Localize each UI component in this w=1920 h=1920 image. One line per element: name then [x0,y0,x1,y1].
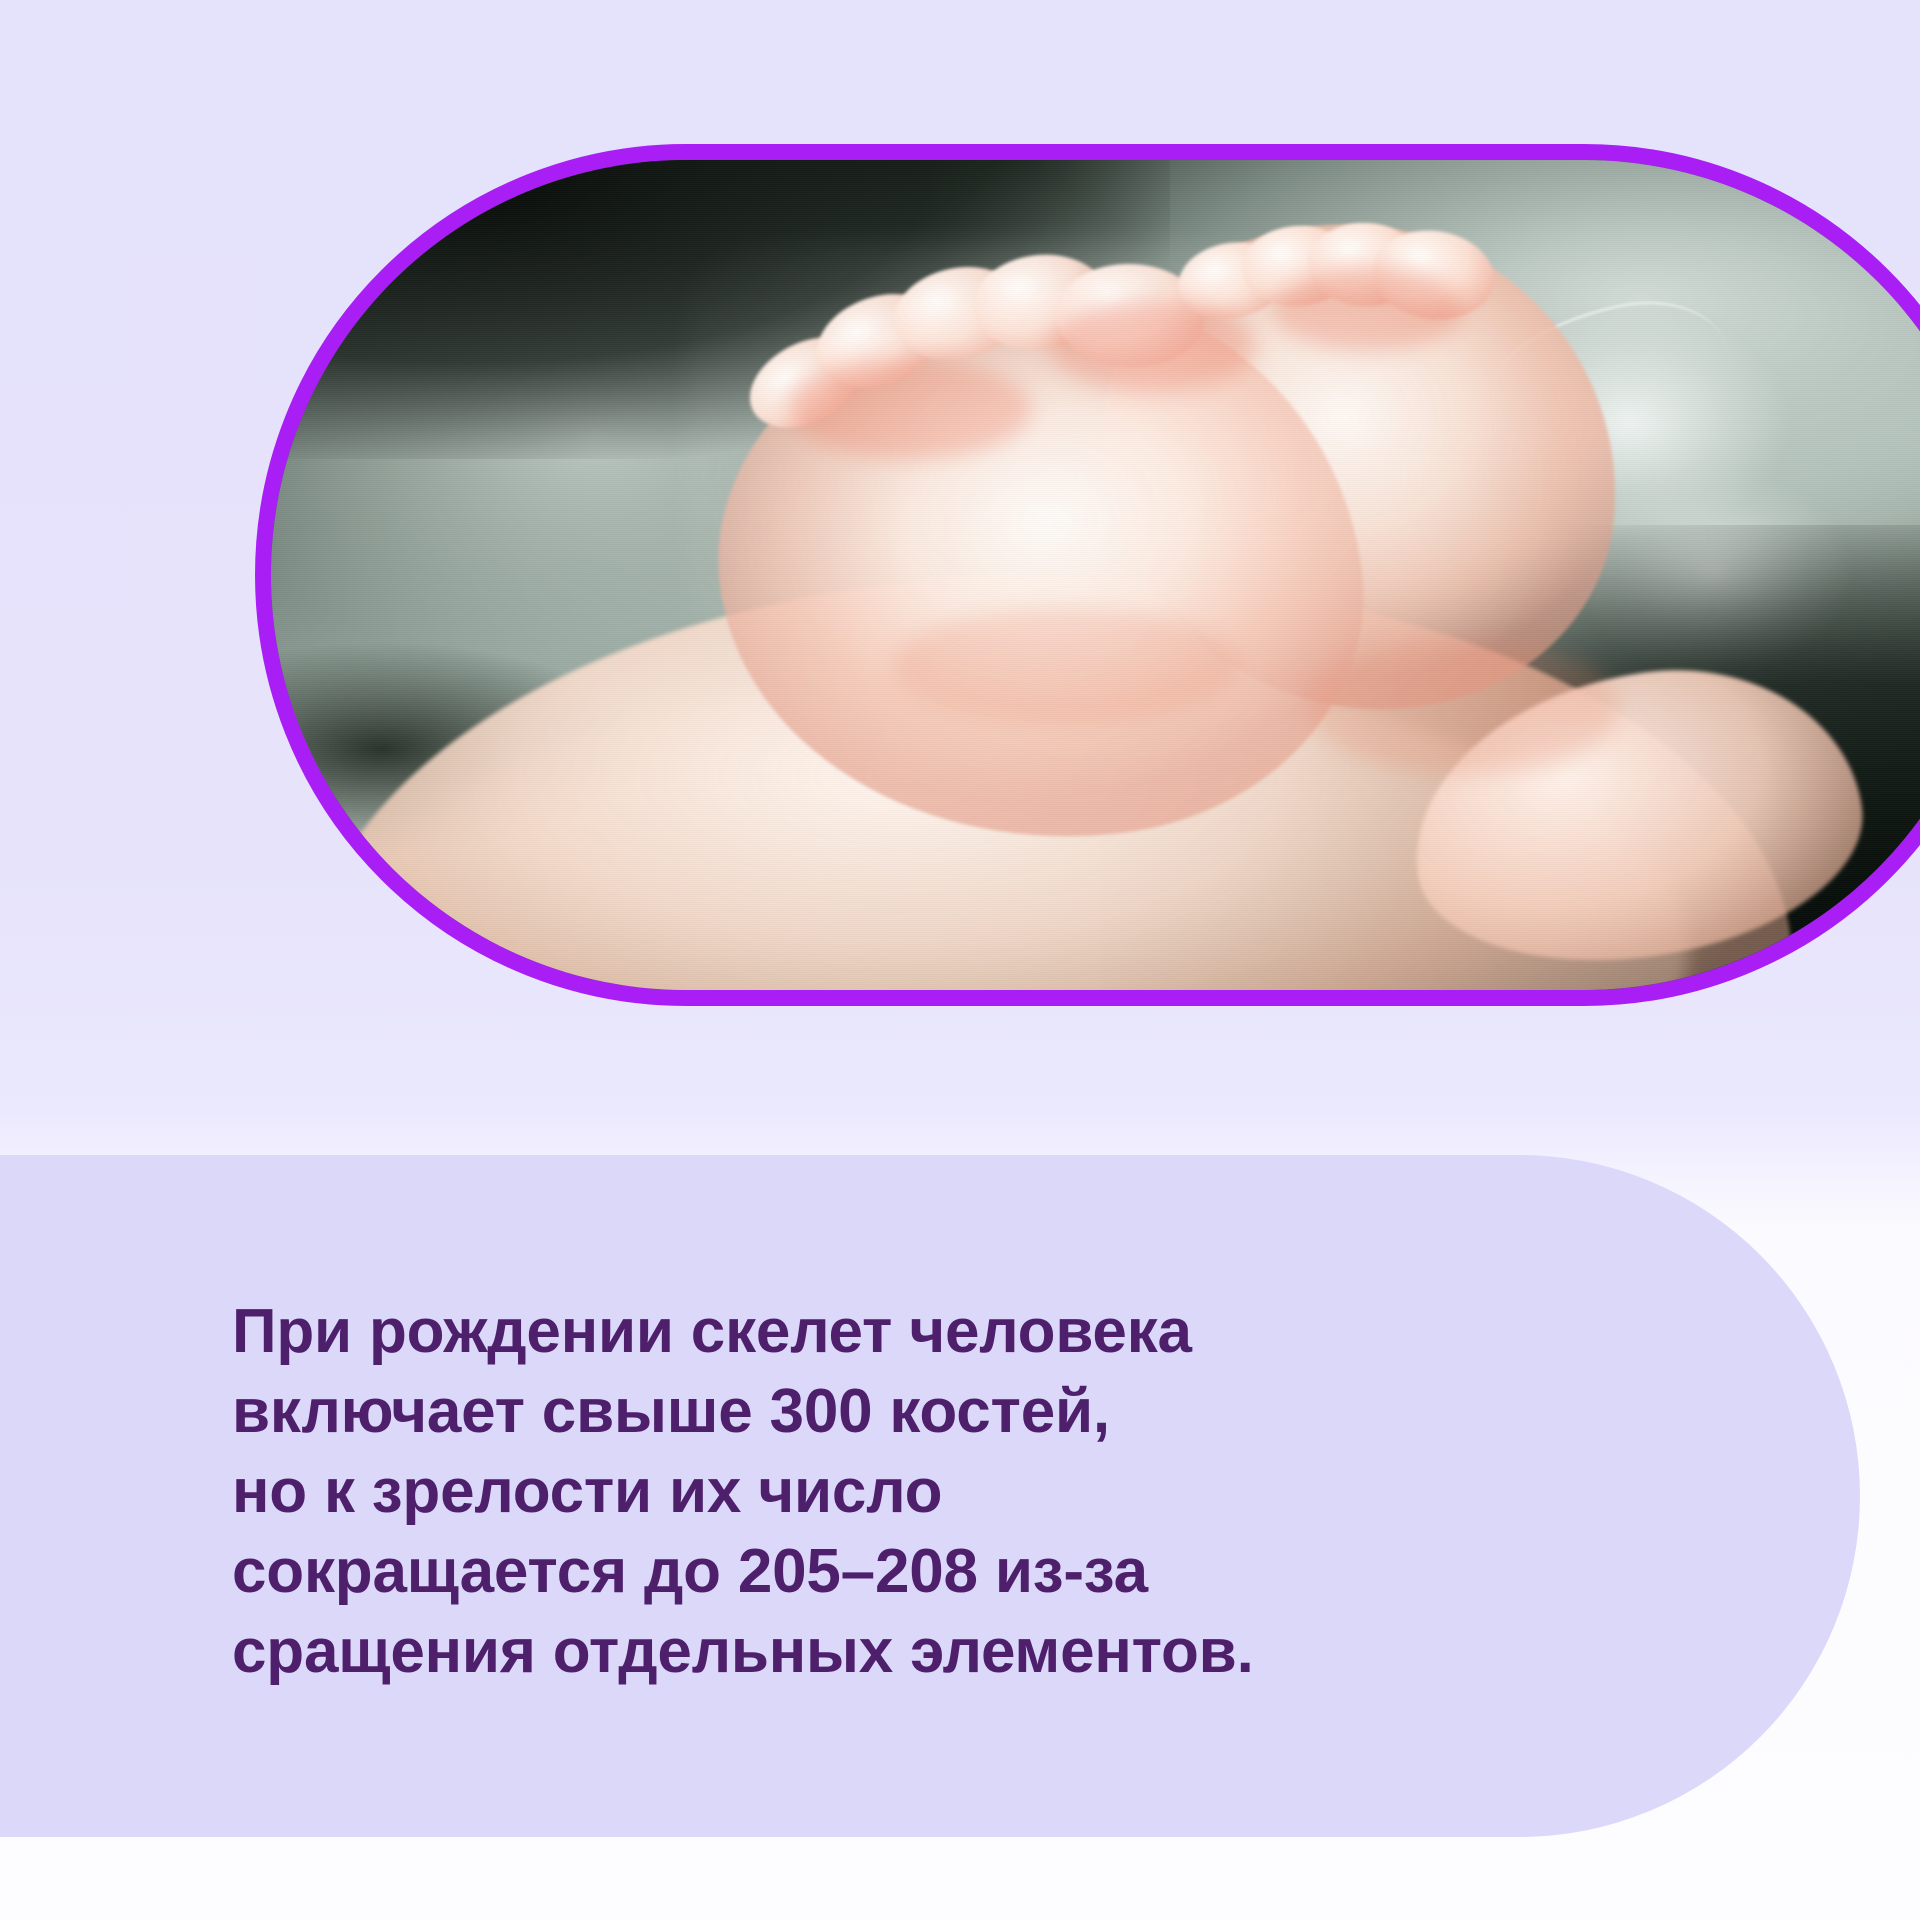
caption-line: сращения отдельных элементов. [232,1612,1652,1692]
caption-line: включает свыше 300 костей, [232,1372,1652,1452]
caption-line: При рождении скелет человека [232,1292,1652,1372]
baby-feet-photo [271,160,1920,990]
caption-text: При рождении скелет человека включает св… [232,1292,1652,1692]
caption-line: но к зрелости их число [232,1452,1652,1532]
caption-line: сокращается до 205–208 из-за [232,1532,1652,1612]
photo-frame [255,144,1920,1006]
photo-grain [271,160,1920,990]
